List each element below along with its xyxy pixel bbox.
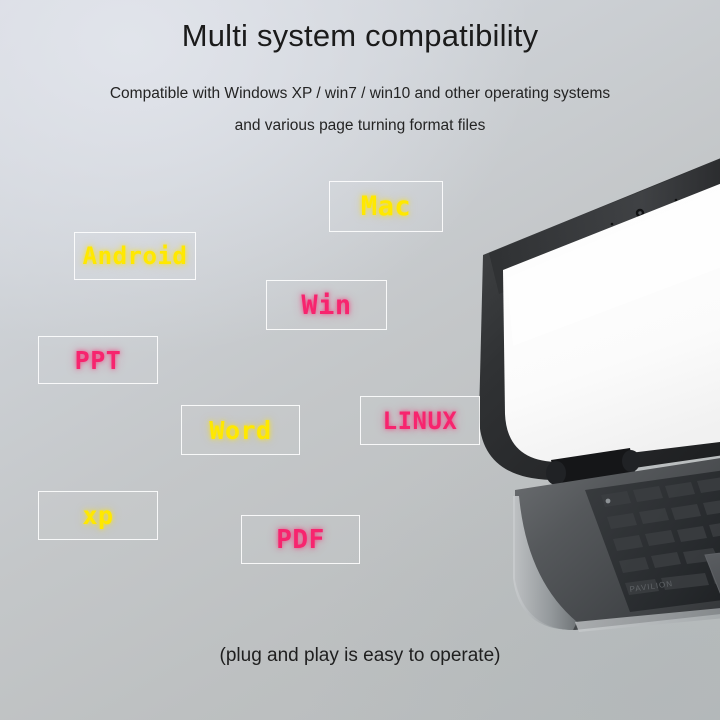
compatibility-slide: hp (0, 0, 720, 720)
chip-label: PPT (75, 348, 122, 373)
subtitle-line-2: and various page turning format files (0, 110, 720, 142)
chip-ppt[interactable]: PPT (38, 336, 158, 384)
chip-label: LINUX (383, 409, 458, 433)
footer-caption: (plug and play is easy to operate) (0, 643, 720, 669)
chip-label: Word (209, 418, 271, 443)
laptop-image: hp (455, 160, 720, 630)
subtitle-line-1: Compatible with Windows XP / win7 / win1… (0, 78, 720, 110)
chip-label: Android (83, 244, 188, 268)
chip-label: xp (82, 503, 113, 528)
chip-word[interactable]: Word (181, 405, 300, 455)
chip-pdf[interactable]: PDF (241, 515, 360, 564)
svg-text:PAVILION: PAVILION (629, 579, 674, 594)
chip-win[interactable]: Win (266, 280, 387, 330)
chip-linux[interactable]: LINUX (360, 396, 480, 445)
chip-label: Mac (361, 193, 411, 220)
page-title: Multi system compatibility (0, 16, 720, 56)
chip-mac[interactable]: Mac (329, 181, 443, 232)
chip-android[interactable]: Android (74, 232, 196, 280)
page-subtitle: Compatible with Windows XP / win7 / win1… (0, 78, 720, 142)
chip-label: Win (301, 292, 351, 319)
chip-xp[interactable]: xp (38, 491, 158, 540)
chip-label: PDF (276, 527, 324, 553)
